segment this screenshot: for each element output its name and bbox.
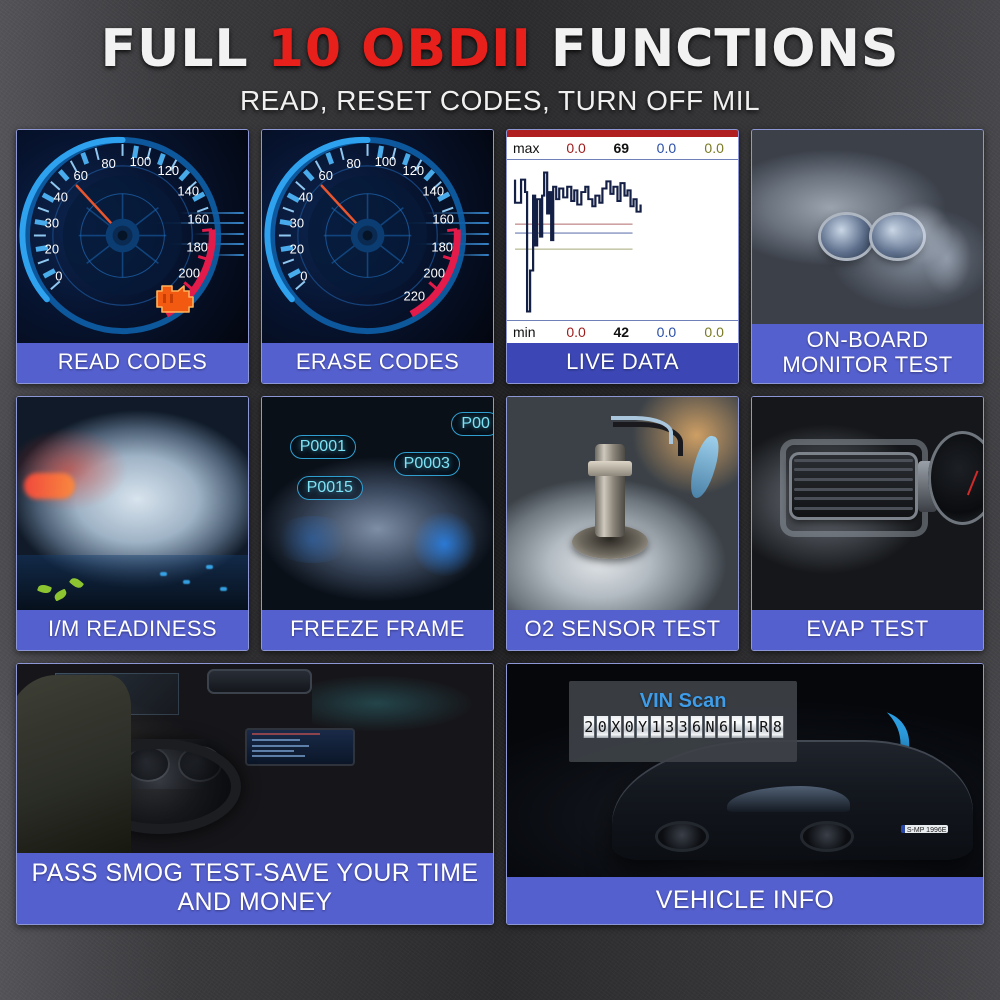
min-label: min xyxy=(513,324,552,340)
svg-text:140: 140 xyxy=(422,183,444,198)
air-vent-photo xyxy=(752,397,983,610)
max-label: max xyxy=(513,140,552,156)
label-line-1: ON-BOARD xyxy=(756,328,979,353)
card-evap-test[interactable]: EVAP TEST xyxy=(751,396,984,651)
air-vent xyxy=(789,452,918,520)
label-line-1: PASS SMOG TEST-SAVE YOUR TIME xyxy=(21,859,489,888)
svg-text:200: 200 xyxy=(178,265,200,280)
wheel-rear xyxy=(655,821,709,852)
driver-cockpit-photo xyxy=(17,664,493,854)
svg-text:100: 100 xyxy=(130,153,152,168)
vin-digit-11: 6 xyxy=(717,716,729,738)
vin-digit-15: 8 xyxy=(771,716,783,738)
promo-banner: FULL 10 OBDII FUNCTIONS READ, RESET CODE… xyxy=(0,0,1000,1000)
im-readiness-art xyxy=(17,397,248,610)
card-label-im-readiness: I/M READINESS xyxy=(17,610,248,650)
vin-digit-12: L xyxy=(731,716,743,738)
svg-text:220: 220 xyxy=(404,288,426,303)
vin-digit-4: 0 xyxy=(623,716,635,738)
sensor-wire-light xyxy=(611,416,673,444)
vin-digit-8: 3 xyxy=(677,716,689,738)
dtc-code-1: P0001 xyxy=(290,435,356,459)
card-on-board-monitor-test[interactable]: ON-BOARD MONITOR TEST xyxy=(751,129,984,384)
dtc-code-2: P0003 xyxy=(394,452,460,476)
evap-test-art xyxy=(752,397,983,610)
exhaust-tip-left xyxy=(821,215,872,258)
card-label-o2-sensor-test: O2 SENSOR TEST xyxy=(507,610,738,650)
oxygen-sensor-photo xyxy=(507,397,738,610)
vin-digit-strip: 20X0Y1336N6L1R8 xyxy=(583,716,784,738)
svg-text:0: 0 xyxy=(55,268,62,283)
road-surface xyxy=(17,555,248,610)
vin-digit-14: R xyxy=(758,716,770,738)
page-subtitle: READ, RESET CODES, TURN OFF MIL xyxy=(0,85,1000,117)
card-erase-codes[interactable]: 02030 406080 100120140 160180200 220 xyxy=(261,129,494,384)
vin-scan-panel: VIN Scan 20X0Y1336N6L1R8 xyxy=(569,681,797,762)
erase-codes-art: 02030 406080 100120140 160180200 220 xyxy=(262,130,493,343)
dtc-code-3: P0015 xyxy=(297,476,363,500)
svg-text:120: 120 xyxy=(158,162,180,177)
headlight-glow xyxy=(410,512,479,576)
card-o2-sensor-test[interactable]: O2 SENSOR TEST xyxy=(506,396,739,651)
feature-grid: 0 20 30 40 60 80 100 120 140 160 180 200… xyxy=(16,129,984,651)
windshield xyxy=(727,786,850,812)
hud-world-map xyxy=(312,675,474,732)
card-label-on-board-monitor-test: ON-BOARD MONITOR TEST xyxy=(752,324,983,382)
live-data-min-row: min 0.0 42 0.0 0.0 xyxy=(507,321,738,343)
vin-digit-3: X xyxy=(610,716,622,738)
card-read-codes[interactable]: 0 20 30 40 60 80 100 120 140 160 180 200… xyxy=(16,129,249,384)
exhaust-smoke xyxy=(881,188,978,301)
card-vehicle-info[interactable]: S-MP 1996E VIN Scan 20X0Y1336N6L1R8 VEHI… xyxy=(506,663,984,925)
pass-smog-test-art xyxy=(17,664,493,854)
card-label-pass-smog-test: PASS SMOG TEST-SAVE YOUR TIME AND MONEY xyxy=(17,853,493,924)
driver-silhouette xyxy=(17,675,131,853)
svg-text:80: 80 xyxy=(346,155,360,170)
sensor-nut xyxy=(588,461,632,476)
card-freeze-frame[interactable]: P0001 P0003 P0015 P00 FREEZE FRAME xyxy=(261,396,494,651)
card-label-live-data: LIVE DATA xyxy=(507,343,738,383)
live-data-plot xyxy=(507,159,738,321)
speedometer-gauge-icon: 0 20 30 40 60 80 100 120 140 160 180 200… xyxy=(17,130,248,343)
card-label-vehicle-info: VEHICLE INFO xyxy=(507,877,983,924)
card-pass-smog-test[interactable]: PASS SMOG TEST-SAVE YOUR TIME AND MONEY xyxy=(16,663,494,925)
live-data-top-bar xyxy=(507,130,738,137)
svg-text:20: 20 xyxy=(290,241,304,256)
taillight-glow xyxy=(24,473,75,499)
svg-text:140: 140 xyxy=(177,183,199,198)
svg-text:100: 100 xyxy=(375,153,397,168)
page-title: FULL 10 OBDII FUNCTIONS xyxy=(0,22,1000,77)
card-im-readiness[interactable]: I/M READINESS xyxy=(16,396,249,651)
title-highlight: 10 OBDII xyxy=(268,19,532,79)
svg-text:30: 30 xyxy=(45,215,59,230)
live-data-art: max 0.0 69 0.0 0.0 xyxy=(507,130,738,343)
dtc-code-4: P00 xyxy=(451,412,493,436)
svg-text:40: 40 xyxy=(299,189,313,204)
wheel-front xyxy=(800,821,854,852)
card-label-erase-codes: ERASE CODES xyxy=(262,343,493,383)
title-part1: FULL xyxy=(101,19,268,79)
svg-text:120: 120 xyxy=(403,162,425,177)
min-value-3: 0.0 xyxy=(643,324,691,340)
svg-text:180: 180 xyxy=(186,239,208,254)
svg-text:30: 30 xyxy=(290,215,304,230)
exhaust-pipe-photo xyxy=(752,130,983,325)
infotainment-screen xyxy=(245,728,354,766)
vin-scan-title: VIN Scan xyxy=(569,690,797,713)
max-value-1: 0.0 xyxy=(552,140,600,156)
check-engine-icon xyxy=(149,279,201,315)
svg-text:0: 0 xyxy=(300,268,307,283)
min-value-4: 0.0 xyxy=(690,324,738,340)
vin-digit-10: N xyxy=(704,716,716,738)
o2-sensor-test-art xyxy=(507,397,738,610)
min-value-1: 0.0 xyxy=(552,324,600,340)
svg-text:160: 160 xyxy=(187,211,209,226)
vehicle-info-art: S-MP 1996E VIN Scan 20X0Y1336N6L1R8 xyxy=(507,664,983,877)
svg-text:180: 180 xyxy=(431,239,453,254)
svg-text:20: 20 xyxy=(45,241,59,256)
max-value-3: 0.0 xyxy=(643,140,691,156)
banner-header: FULL 10 OBDII FUNCTIONS READ, RESET CODE… xyxy=(0,0,1000,117)
vin-digit-2: 0 xyxy=(596,716,608,738)
vin-digit-6: 1 xyxy=(650,716,662,738)
card-label-freeze-frame: FREEZE FRAME xyxy=(262,610,493,650)
card-label-evap-test: EVAP TEST xyxy=(752,610,983,650)
read-codes-art: 0 20 30 40 60 80 100 120 140 160 180 200… xyxy=(17,130,248,343)
vin-digit-5: Y xyxy=(636,716,648,738)
max-value-2: 69 xyxy=(600,140,643,156)
live-data-max-row: max 0.0 69 0.0 0.0 xyxy=(507,137,738,159)
white-sports-car-photo xyxy=(17,397,248,610)
vin-digit-9: 6 xyxy=(690,716,702,738)
label-line-2: AND MONEY xyxy=(21,888,489,917)
vin-digit-7: 3 xyxy=(663,716,675,738)
min-value-2: 42 xyxy=(600,324,643,340)
card-live-data[interactable]: max 0.0 69 0.0 0.0 xyxy=(506,129,739,384)
svg-text:40: 40 xyxy=(54,189,68,204)
svg-text:160: 160 xyxy=(432,211,454,226)
sensor-body xyxy=(595,444,625,538)
svg-text:60: 60 xyxy=(319,167,333,182)
vin-digit-1: 2 xyxy=(583,716,595,738)
live-data-panel: max 0.0 69 0.0 0.0 xyxy=(507,130,738,343)
svg-text:60: 60 xyxy=(74,167,88,182)
card-label-read-codes: READ CODES xyxy=(17,343,248,383)
license-plate: S-MP 1996E xyxy=(901,825,948,833)
underglow xyxy=(271,516,354,563)
probe-tool xyxy=(686,433,724,500)
label-line-2: MONITOR TEST xyxy=(756,353,979,378)
max-value-4: 0.0 xyxy=(690,140,738,156)
svg-text:80: 80 xyxy=(101,155,115,170)
rearview-mirror xyxy=(207,669,312,694)
svg-text:200: 200 xyxy=(423,265,445,280)
speedometer-gauge-icon: 02030 406080 100120140 160180200 220 xyxy=(262,130,493,343)
feature-grid-row3: PASS SMOG TEST-SAVE YOUR TIME AND MONEY … xyxy=(16,663,984,925)
vin-scan-photo: S-MP 1996E VIN Scan 20X0Y1336N6L1R8 xyxy=(507,664,983,877)
vin-digit-13: 1 xyxy=(744,716,756,738)
on-board-monitor-test-art xyxy=(752,130,983,325)
title-part2: FUNCTIONS xyxy=(532,19,900,79)
live-data-waveform xyxy=(507,160,738,320)
freeze-frame-art: P0001 P0003 P0015 P00 xyxy=(262,397,493,610)
